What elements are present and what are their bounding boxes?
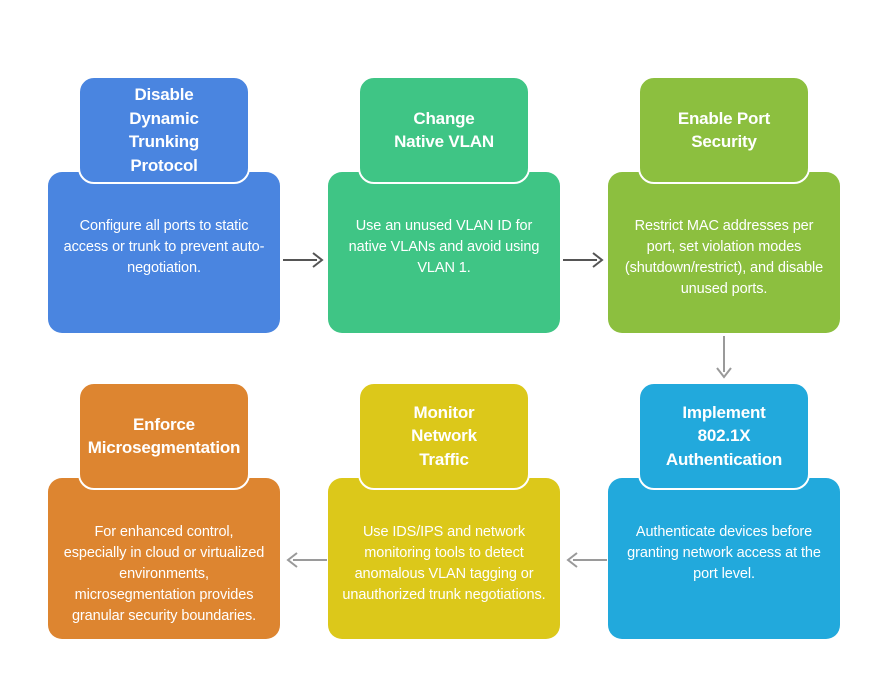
card-title-badge[interactable]: DisableDynamicTrunkingProtocol [78,76,250,184]
card-title-badge[interactable]: ChangeNative VLAN [358,76,530,184]
card-body: Restrict MAC addresses per port, set vio… [608,172,840,333]
connector-1-to-2-arrow-right-icon [283,249,327,271]
connector-2-to-3-arrow-right-icon [563,249,607,271]
card-description: For enhanced control, especially in clou… [62,522,266,627]
card-body: Authenticate devices before granting net… [608,478,840,639]
card-title: DisableDynamicTrunkingProtocol [80,83,248,177]
card-description: Authenticate devices before granting net… [622,522,826,585]
card-body: Use an unused VLAN ID for native VLANs a… [328,172,560,333]
connector-5-to-6-arrow-left-icon [283,549,327,571]
card-description: Use IDS/IPS and network monitoring tools… [342,522,546,606]
card-title: EnforceMicrosegmentation [80,413,248,460]
card-title: Enable PortSecurity [640,107,808,154]
card-body: Use IDS/IPS and network monitoring tools… [328,478,560,639]
card-description: Configure all ports to static access or … [62,216,266,279]
card-body: Configure all ports to static access or … [48,172,280,333]
card-title-badge[interactable]: EnforceMicrosegmentation [78,382,250,490]
card-title-badge[interactable]: Enable PortSecurity [638,76,810,184]
card-body: For enhanced control, especially in clou… [48,478,280,639]
connector-3-to-4-arrow-down-icon [713,336,735,382]
card-title-badge[interactable]: MonitorNetworkTraffic [358,382,530,490]
flowchart-canvas: Configure all ports to static access or … [0,0,889,691]
card-description: Restrict MAC addresses per port, set vio… [622,216,826,300]
card-description: Use an unused VLAN ID for native VLANs a… [342,216,546,279]
card-title: MonitorNetworkTraffic [360,401,528,472]
card-title: ChangeNative VLAN [360,107,528,154]
card-title: Implement802.1XAuthentication [640,401,808,472]
card-title-badge[interactable]: Implement802.1XAuthentication [638,382,810,490]
connector-4-to-5-arrow-left-icon [563,549,607,571]
